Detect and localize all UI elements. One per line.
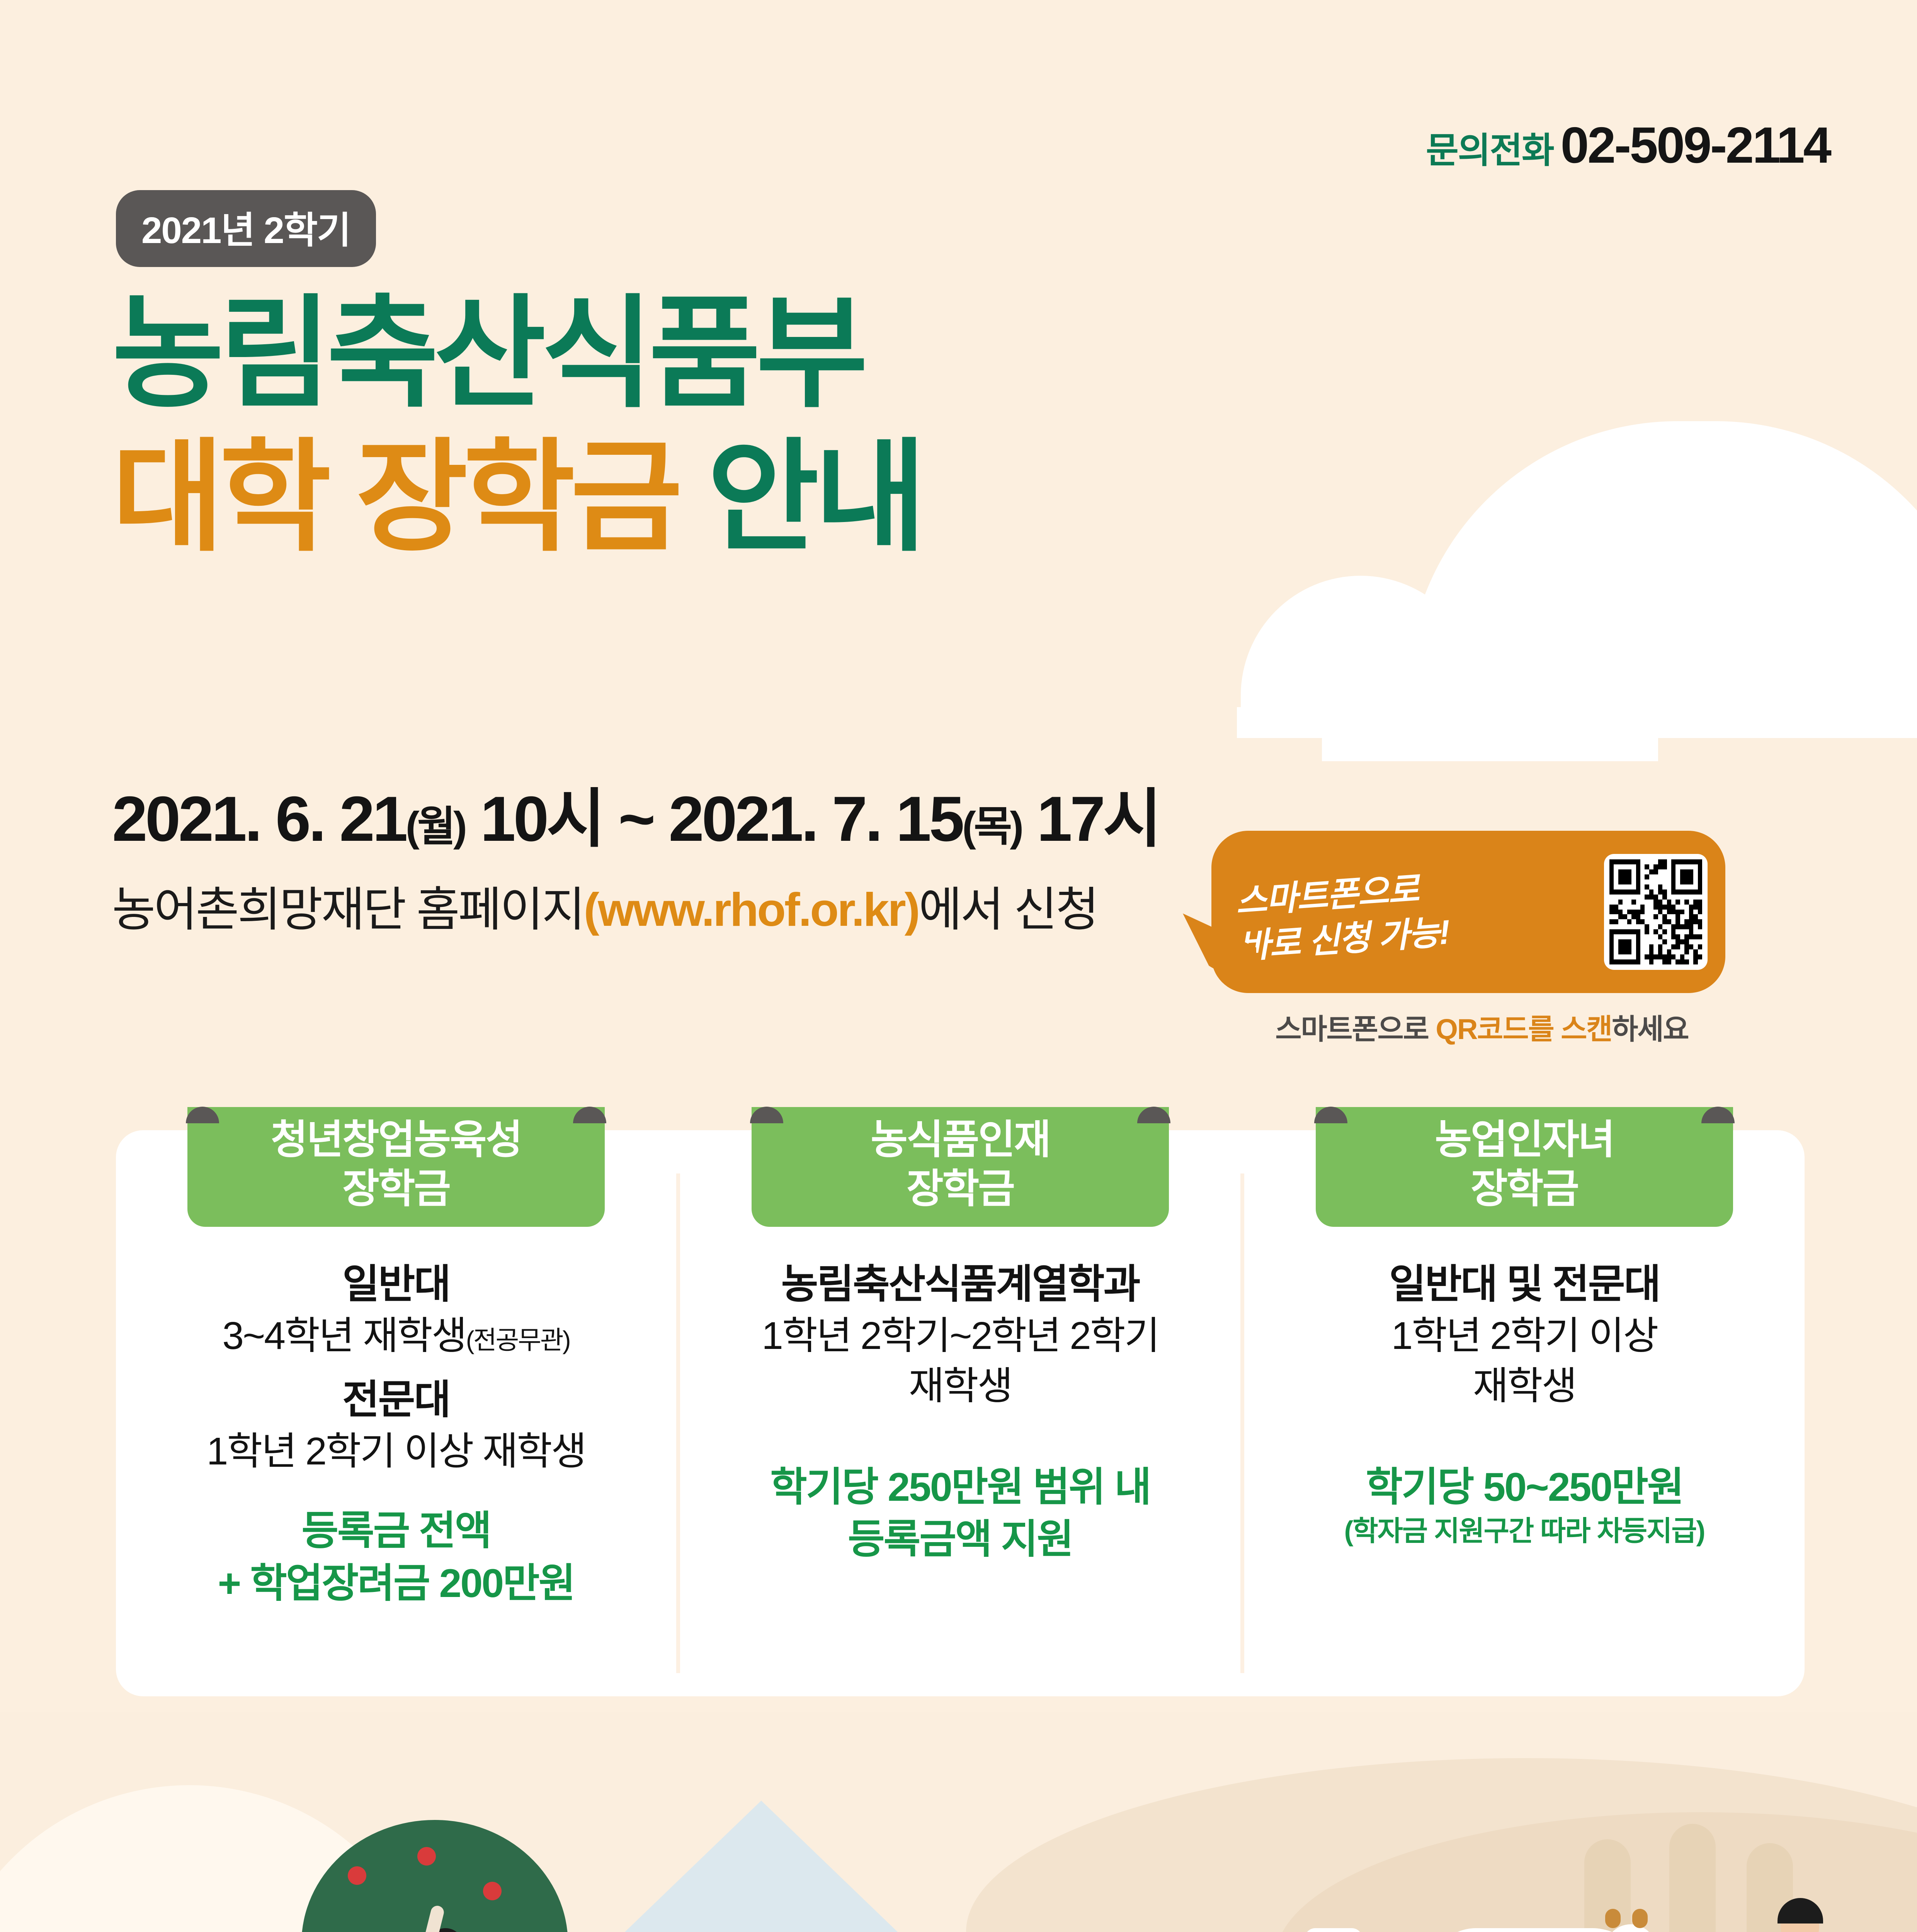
qr-caption-bold: QR코드를 스캔 — [1436, 1013, 1612, 1045]
phone-label: 문의전화 — [1426, 122, 1554, 173]
card-2-row-0: 농림축산식품계열학과 — [689, 1259, 1231, 1311]
site-suffix: 에서 신청 — [919, 883, 1097, 936]
card-2-tab-line-2: 장학금 — [752, 1165, 1169, 1214]
period-middle: 10시 ~ 2021. 7. 15 — [465, 783, 962, 854]
card-1-row-1-text: 3~4학년 재학생 — [222, 1314, 466, 1357]
semester-badge: 2021년 2학기 — [116, 190, 376, 267]
card-3-tab: 농업인자녀 장학금 — [1316, 1107, 1733, 1227]
scholarship-card-1: 청년창업농육성 장학금 일반대 3~4학년 재학생(전공무관) 전문대 1학년 … — [116, 1130, 676, 1696]
card-3-body: 일반대 및 전문대 1학년 2학기 이상 재학생 학기당 50~250만원 (학… — [1244, 1259, 1805, 1550]
card-3-tab-line-1: 농업인자녀 — [1316, 1116, 1733, 1165]
card-divider-2 — [1240, 1173, 1244, 1673]
period-day-2: (목) — [962, 803, 1021, 850]
scholarship-panel: 청년창업농육성 장학금 일반대 3~4학년 재학생(전공무관) 전문대 1학년 … — [116, 1130, 1805, 1696]
scholarship-card-3: 농업인자녀 장학금 일반대 및 전문대 1학년 2학기 이상 재학생 학기당 5… — [1244, 1130, 1805, 1696]
site-url[interactable]: (www.rhof.or.kr) — [584, 883, 919, 936]
card-1-row-1: 3~4학년 재학생(전공무관) — [125, 1311, 667, 1361]
card-3-row-0: 일반대 및 전문대 — [1254, 1259, 1795, 1311]
pin-left-icon — [750, 1107, 783, 1123]
pin-left-icon — [1314, 1107, 1347, 1123]
qr-code-icon[interactable] — [1604, 854, 1708, 970]
title-orange: 대학 장학금 — [112, 429, 678, 565]
person-chicken-feeder — [1294, 1928, 1383, 1932]
card-3-note: (학자금 지원구간 따라 차등지급) — [1254, 1514, 1795, 1550]
person-feeding-pigs — [1762, 1905, 1859, 1932]
pin-right-icon — [573, 1107, 606, 1123]
qr-speech-bubble: 스마트폰으로 바로 신청 가능! — [1211, 831, 1725, 993]
card-2-tab: 농식품인재 장학금 — [752, 1107, 1169, 1227]
title-line-1: 농림축산식품부 — [112, 282, 922, 426]
card-1-amount-1: + 학업장려금 200만원 — [125, 1558, 667, 1610]
period-end: 17시 — [1021, 783, 1159, 854]
card-2-amount-1: 등록금액 지원 — [689, 1514, 1231, 1566]
poplar-tree-icon — [1669, 1824, 1716, 1932]
qr-caption-prefix: 스마트폰으로 — [1275, 1013, 1436, 1045]
poster-root: 문의전화 02-509-2114 2021년 2학기 농림축산식품부 대학 장학… — [0, 0, 1917, 1932]
card-2-row-1: 1학년 2학기~2학년 2학기 — [689, 1311, 1231, 1361]
card-1-tab-line-1: 청년창업농육성 — [187, 1116, 605, 1165]
greenhouse-icon — [553, 1801, 970, 1932]
scholarship-card-2: 농식품인재 장학금 농림축산식품계열학과 1학년 2학기~2학년 2학기 재학생… — [680, 1130, 1240, 1696]
qr-bubble-text: 스마트폰으로 바로 신청 가능! — [1234, 855, 1595, 969]
contact-phone: 문의전화 02-509-2114 — [1426, 116, 1830, 174]
card-1-row-1-note: (전공무관) — [466, 1326, 570, 1354]
card-1-tab-line-2: 장학금 — [187, 1165, 605, 1214]
person-apple-picker — [408, 1928, 485, 1932]
qr-caption: 스마트폰으로 QR코드를 스캔하세요 — [1211, 1006, 1752, 1048]
card-3-amount-0: 학기당 50~250만원 — [1254, 1461, 1795, 1514]
phone-number: 02-509-2114 — [1561, 116, 1830, 174]
title-line-2: 대학 장학금 안내 — [112, 426, 922, 570]
card-3-row-2: 재학생 — [1254, 1361, 1795, 1411]
application-site: 농어촌희망재단 홈페이지(www.rhof.or.kr)에서 신청 — [112, 871, 1097, 940]
pin-right-icon — [1701, 1107, 1735, 1123]
pin-left-icon — [186, 1107, 219, 1123]
application-period: 2021. 6. 21(월) 10시 ~ 2021. 7. 15(목) 17시 — [112, 767, 1159, 859]
card-1-amount-0: 등록금 전액 — [125, 1505, 667, 1557]
card-2-tab-line-1: 농식품인재 — [752, 1116, 1169, 1165]
period-start: 2021. 6. 21 — [112, 783, 406, 854]
card-1-row-0: 일반대 — [125, 1259, 667, 1311]
card-1-row-3: 1학년 2학기 이상 재학생 — [125, 1426, 667, 1476]
card-1-row-2: 전문대 — [125, 1374, 667, 1426]
page-title: 농림축산식품부 대학 장학금 안내 — [112, 282, 922, 569]
card-2-row-2: 재학생 — [689, 1361, 1231, 1411]
farm-illustration — [0, 1712, 1917, 1932]
pin-right-icon — [1137, 1107, 1170, 1123]
card-2-body: 농림축산식품계열학과 1학년 2학기~2학년 2학기 재학생 학기당 250만원… — [680, 1259, 1240, 1566]
site-prefix: 농어촌희망재단 홈페이지 — [112, 883, 584, 936]
card-2-amount-0: 학기당 250만원 범위 내 — [689, 1461, 1231, 1514]
card-3-row-1: 1학년 2학기 이상 — [1254, 1311, 1795, 1361]
qr-caption-suffix: 하세요 — [1612, 1013, 1688, 1045]
card-divider-1 — [676, 1173, 680, 1673]
card-1-body: 일반대 3~4학년 재학생(전공무관) 전문대 1학년 2학기 이상 재학생 등… — [116, 1259, 676, 1610]
title-green: 안내 — [707, 429, 922, 565]
period-day-1: (월) — [406, 803, 465, 850]
qr-section: 스마트폰으로 바로 신청 가능! 스마트폰으로 QR코드를 스캔하세요 — [1211, 831, 1752, 1048]
card-3-tab-line-2: 장학금 — [1316, 1165, 1733, 1214]
card-1-tab: 청년창업농육성 장학금 — [187, 1107, 605, 1227]
